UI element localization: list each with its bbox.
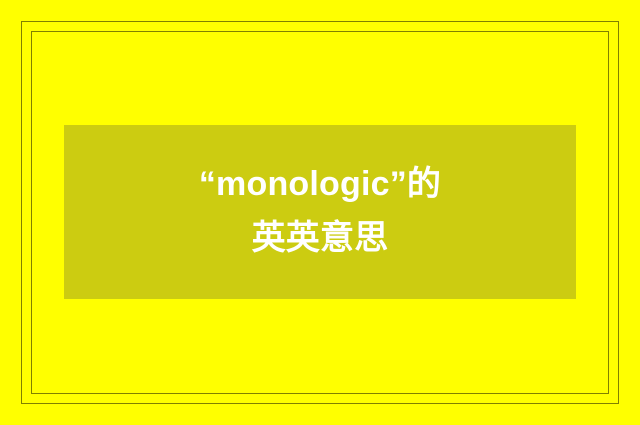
title-banner: “monologic”的英英意思: [64, 125, 576, 299]
page-canvas: “monologic”的英英意思: [0, 0, 640, 425]
page-title: “monologic”的英英意思: [195, 158, 445, 265]
